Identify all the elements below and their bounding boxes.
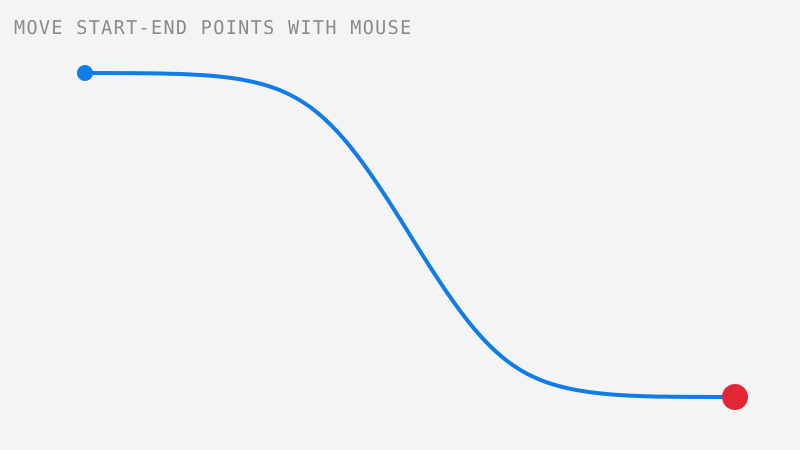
end-point-handle[interactable] [722, 384, 748, 410]
drawing-canvas[interactable]: MOVE START-END POINTS WITH MOUSE [0, 0, 800, 450]
bezier-demo-app: MOVE START-END POINTS WITH MOUSE [0, 0, 800, 450]
start-point-handle[interactable] [77, 65, 93, 81]
bezier-canvas-svg[interactable] [0, 0, 800, 450]
page-title: MOVE START-END POINTS WITH MOUSE [14, 18, 413, 38]
canvas-background [0, 0, 800, 450]
